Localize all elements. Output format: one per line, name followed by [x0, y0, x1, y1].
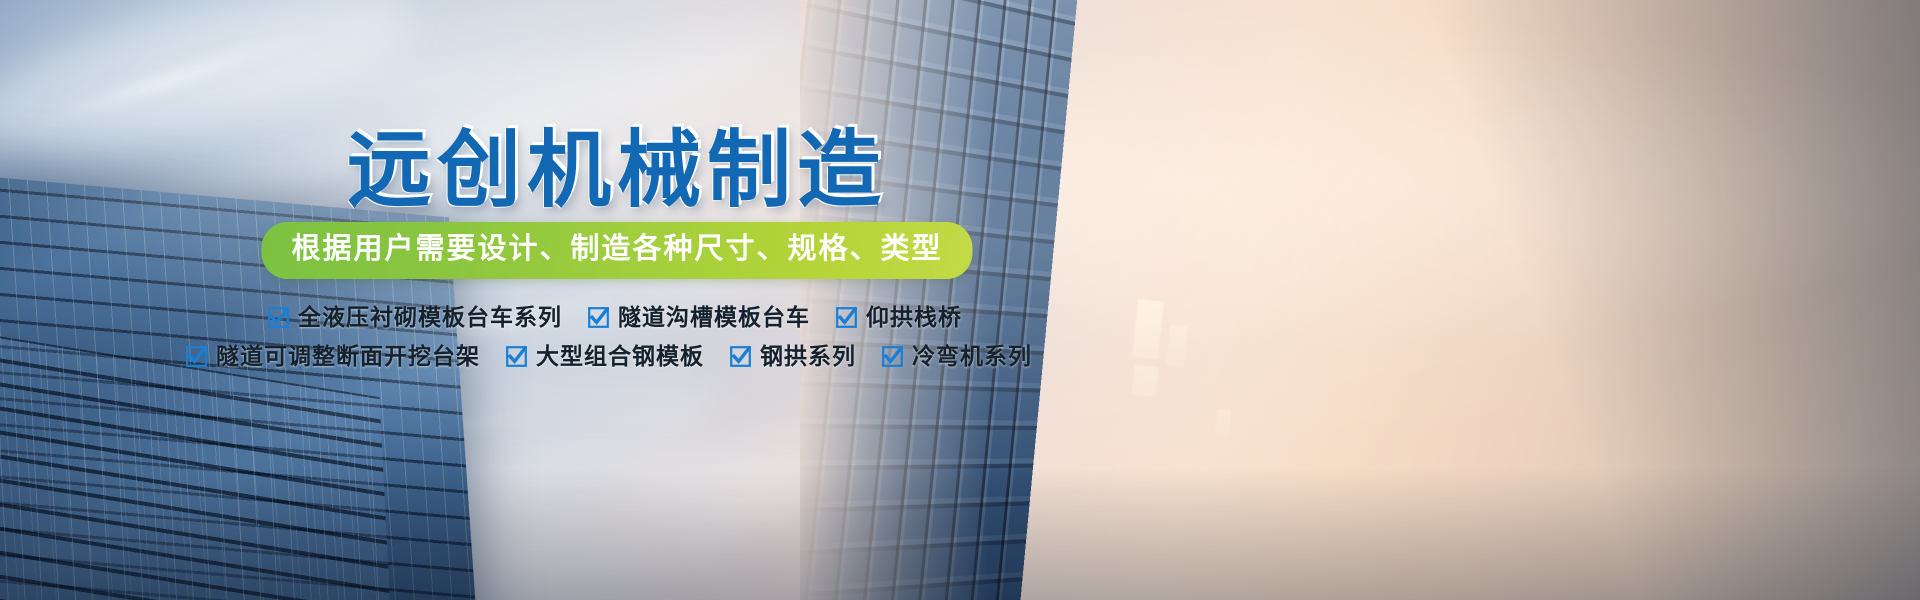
feature-item[interactable]: 全液压衬砌模板台车系列 [268, 306, 562, 329]
feature-list: 全液压衬砌模板台车系列 隧道沟槽模板台车 [0, 306, 1200, 384]
feature-item[interactable]: 隧道可调整断面开挖台架 [186, 345, 480, 368]
checkbox-checked-icon [882, 346, 903, 367]
feature-row: 隧道可调整断面开挖台架 大型组合钢模板 [0, 345, 1200, 368]
feature-label: 大型组合钢模板 [536, 345, 704, 368]
feature-label: 隧道可调整断面开挖台架 [216, 345, 480, 368]
checkbox-checked-icon [186, 346, 207, 367]
feature-label: 冷弯机系列 [912, 345, 1032, 368]
checkbox-checked-icon [588, 307, 609, 328]
feature-label: 钢拱系列 [760, 345, 856, 368]
checkbox-checked-icon [836, 307, 857, 328]
feature-item[interactable]: 隧道沟槽模板台车 [588, 306, 810, 329]
feature-item[interactable]: 冷弯机系列 [882, 345, 1032, 368]
hero-banner: 远创机械制造 根据用户需要设计、制造各种尺寸、规格、类型 全液压衬砌模板台车系列 [0, 0, 1920, 600]
skyscraper-right-facade [1587, 0, 1920, 600]
banner-tagline-pill: 根据用户需要设计、制造各种尺寸、规格、类型 [261, 222, 972, 279]
feature-label: 仰拱栈桥 [866, 306, 962, 329]
feature-label: 全液压衬砌模板台车系列 [298, 306, 562, 329]
checkbox-checked-icon [268, 307, 289, 328]
feature-item[interactable]: 钢拱系列 [730, 345, 856, 368]
feature-item[interactable]: 仰拱栈桥 [836, 306, 962, 329]
feature-item[interactable]: 大型组合钢模板 [506, 345, 704, 368]
checkbox-checked-icon [730, 346, 751, 367]
banner-content: 远创机械制造 根据用户需要设计、制造各种尺寸、规格、类型 全液压衬砌模板台车系列 [0, 0, 1200, 600]
feature-label: 隧道沟槽模板台车 [618, 306, 810, 329]
banner-headline: 远创机械制造 [0, 128, 1200, 212]
checkbox-checked-icon [506, 346, 527, 367]
feature-row: 全液压衬砌模板台车系列 隧道沟槽模板台车 [0, 306, 1200, 329]
window-reflection [1215, 409, 1232, 436]
